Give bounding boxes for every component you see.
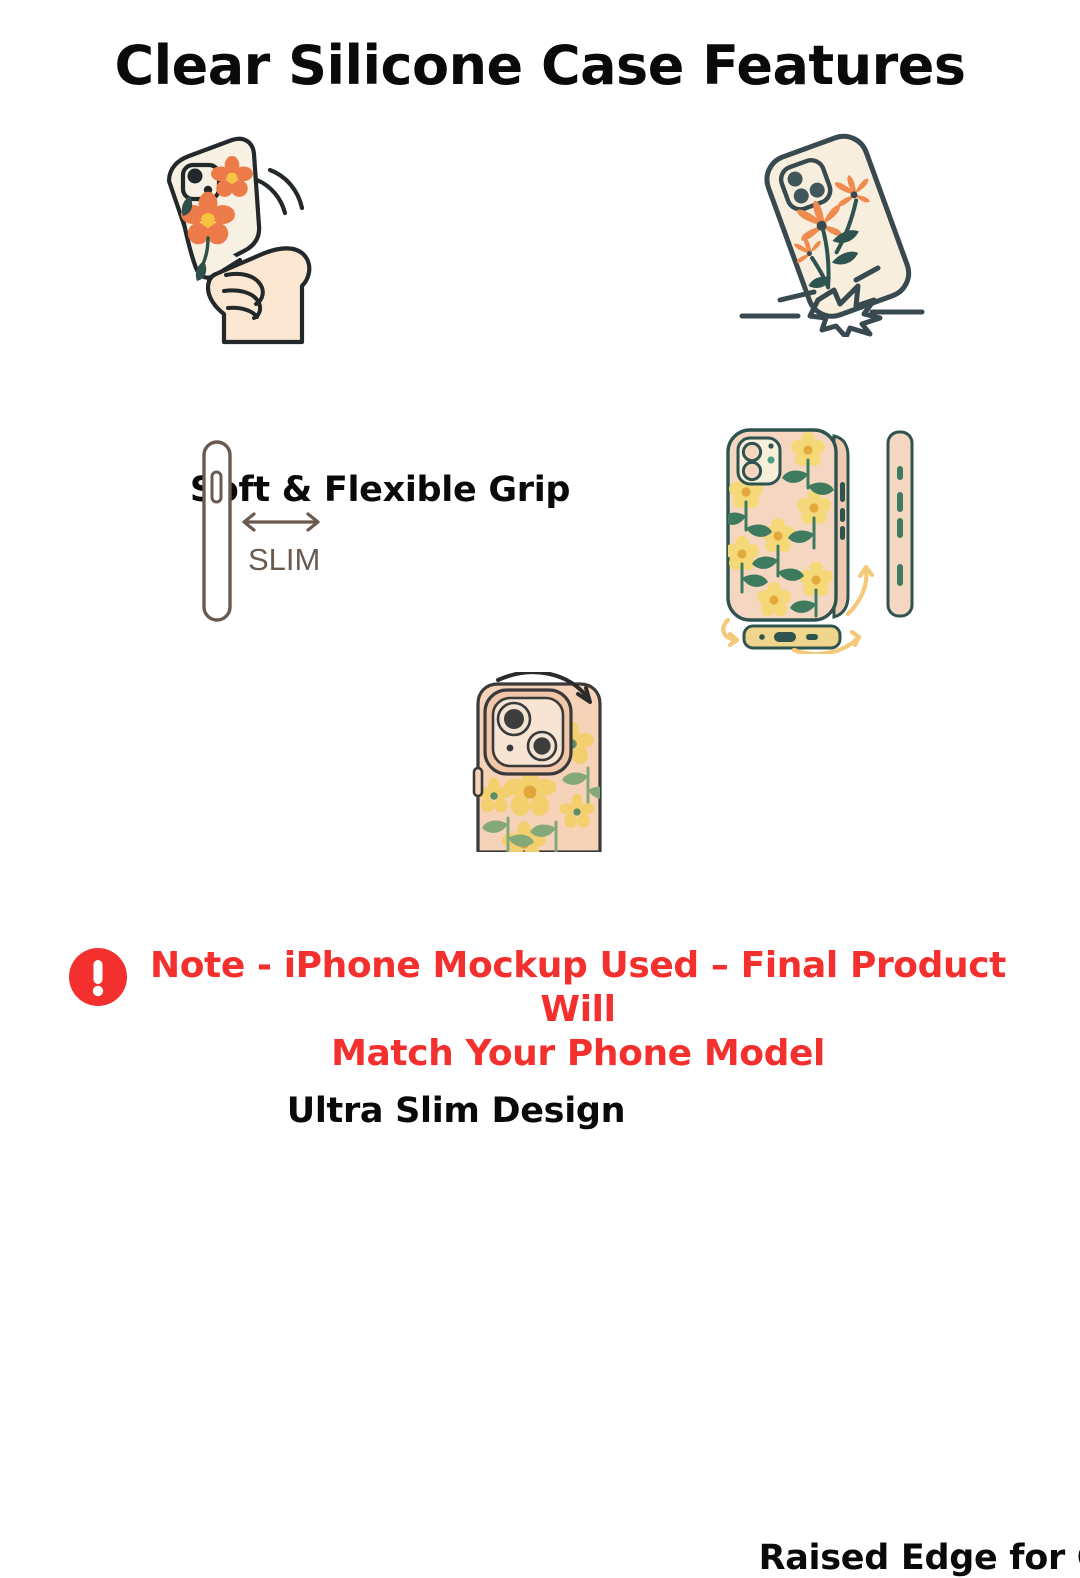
speaker-cutout <box>806 634 818 640</box>
camera-flash <box>507 745 514 752</box>
mute-switch-cutout <box>897 466 903 480</box>
note-line-1: Note - iPhone Mockup Used – Final Produc… <box>150 945 1006 1030</box>
slim-profile-icon: SLIM <box>196 436 356 626</box>
ports-access-icon <box>716 424 936 654</box>
note-line-2: Match Your Phone Model <box>143 1032 1013 1076</box>
side-button <box>212 472 221 502</box>
bottom-edge-view <box>744 626 840 648</box>
camera-lens <box>188 169 203 184</box>
feature-soft-flexible-grip: Soft & Flexible Grip <box>120 118 400 348</box>
raised-camera-edge-icon <box>452 672 642 852</box>
infographic-page: Clear Silicone Case Features <box>0 0 1080 1080</box>
feature-shock-absorbent: Shock Absorbent <box>722 122 942 337</box>
volume-up-cutout <box>897 492 903 512</box>
note-banner: Note - iPhone Mockup Used – Final Produc… <box>0 944 1080 1076</box>
feature-all-ports-accessible: All Ports Accessible <box>716 424 936 654</box>
charging-port-cutout <box>774 632 796 642</box>
width-arrow-icon <box>244 514 318 530</box>
feature-raised-edge-for-camera: Raised Edge for Camera <box>452 672 642 852</box>
motion-arc-icon <box>257 170 302 213</box>
volume-down-cutout <box>897 518 903 538</box>
exclamation-circle-icon <box>67 946 129 1008</box>
camera-lens <box>743 443 760 460</box>
phone-side-profile <box>204 442 230 620</box>
mic-hole <box>759 634 765 640</box>
note-text: Note - iPhone Mockup Used – Final Produc… <box>143 944 1013 1076</box>
slim-arrow-label: SLIM <box>248 542 320 577</box>
feature-ultra-slim-design: SLIM Ultra Slim Design <box>196 436 356 626</box>
power-button-cutout <box>897 564 903 586</box>
phone-drop-impact-icon <box>722 122 942 337</box>
camera-sensor <box>767 456 774 463</box>
camera-lens <box>743 462 760 479</box>
camera-flash <box>768 443 773 448</box>
hand-holding-flexing-phone-icon <box>120 118 400 348</box>
side-button <box>474 768 482 796</box>
side-edge-view <box>888 432 912 616</box>
feature-label-raised-edge-for-camera: Raised Edge for Camera <box>732 1538 1080 1578</box>
page-title: Clear Silicone Case Features <box>0 34 1080 97</box>
side-button-cutouts <box>840 482 845 540</box>
feature-label-ultra-slim-design: Ultra Slim Design <box>196 1091 716 1131</box>
